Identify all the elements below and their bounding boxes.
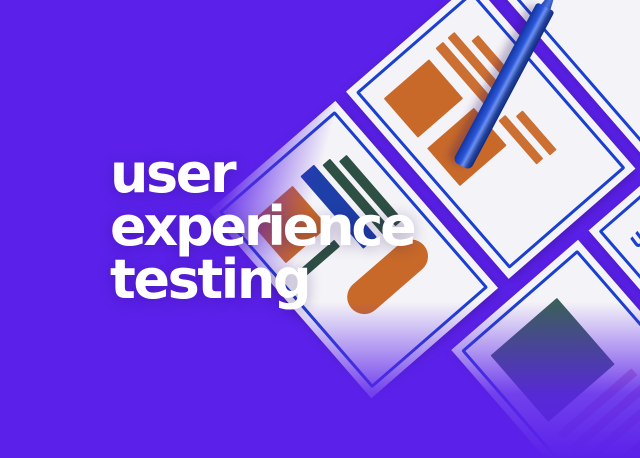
orange-thumbnail-square bbox=[384, 59, 463, 138]
card-handwritten-ui-design: USER INTERFACE DESIGN bbox=[589, 120, 640, 417]
orange-text-bar-1 bbox=[435, 42, 499, 113]
orange-text-bar-4 bbox=[498, 115, 543, 165]
pink-text-bar-3 bbox=[581, 409, 640, 458]
card-blank-far-right bbox=[621, 0, 640, 40]
blue-marker-pen bbox=[455, 0, 567, 165]
headline-line-3: testing bbox=[110, 254, 440, 307]
poster-canvas: USER INTERFACE DESIGN bbox=[0, 0, 640, 458]
headline-line-1: user bbox=[110, 148, 440, 201]
teal-thumbnail-square bbox=[491, 298, 615, 422]
pink-text-bar-1 bbox=[557, 368, 637, 439]
card-blank-top-right bbox=[483, 0, 640, 159]
card-wireframe-teal bbox=[451, 240, 640, 458]
pen-cone bbox=[536, 0, 561, 17]
pink-text-bar-2 bbox=[569, 382, 640, 453]
handwriting-line-user: USER bbox=[626, 200, 640, 253]
pen-shadow bbox=[446, 3, 546, 168]
headline-line-2: experience bbox=[110, 201, 440, 254]
pen-barrel bbox=[452, 2, 554, 170]
orange-text-bar-3 bbox=[471, 35, 515, 83]
page-title: user experience testing bbox=[110, 148, 440, 307]
orange-text-bar-2 bbox=[448, 32, 502, 92]
orange-button-pill bbox=[610, 403, 640, 458]
orange-text-bar-5 bbox=[516, 110, 557, 155]
